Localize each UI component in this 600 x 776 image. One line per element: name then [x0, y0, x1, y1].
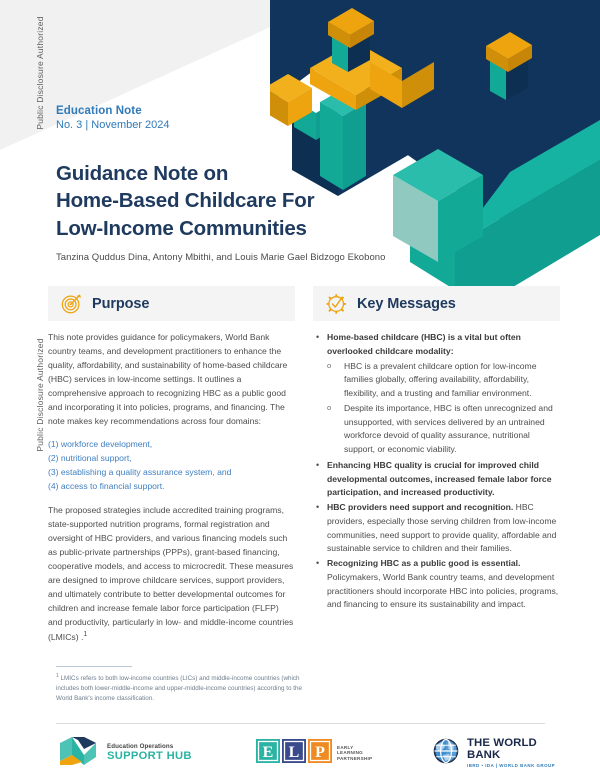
- globe-icon: [431, 736, 461, 771]
- page-title: Guidance Note on Home-Based Childcare Fo…: [56, 160, 386, 242]
- world-bank-line-1: THE WORLD BANK: [467, 738, 560, 762]
- support-hub-mark-icon: [58, 735, 100, 772]
- domain-item-3: (3) establishing a quality assurance sys…: [48, 466, 295, 480]
- world-bank-logo: THE WORLD BANK IBRD • IDA | WORLD BANK G…: [431, 735, 560, 771]
- elp-mark-icon: E L P: [256, 738, 332, 769]
- list-item: HBC is a prevalent childcare option for …: [327, 360, 560, 401]
- list-item: Recognizing HBC as a public good is esse…: [313, 557, 560, 612]
- key-message-lead-2: Enhancing HBC quality is crucial for imp…: [327, 460, 551, 498]
- world-bank-line-2: IBRD • IDA | WORLD BANK GROUP: [467, 764, 560, 769]
- disclosure-label-bottom: Public Disclosure Authorized: [35, 295, 45, 495]
- purpose-paragraph-1: This note provides guidance for policyma…: [48, 331, 295, 428]
- key-message-lead-3: HBC providers need support and recogniti…: [327, 502, 513, 512]
- issue-date: No. 3 | November 2024: [56, 119, 386, 131]
- list-item: HBC providers need support and recogniti…: [313, 501, 560, 556]
- svg-text:L: L: [289, 744, 300, 761]
- list-item: Home-based childcare (HBC) is a vital bu…: [313, 331, 560, 457]
- footer-logos: Education Operations SUPPORT HUB E L P: [48, 735, 560, 771]
- document-page: Public Disclosure Authorized Public Disc…: [0, 0, 600, 776]
- purpose-section-header: Purpose: [48, 286, 295, 321]
- education-operations-support-hub-logo: Education Operations SUPPORT HUB: [58, 735, 192, 771]
- svg-text:E: E: [263, 744, 274, 761]
- footnote-rule: [56, 666, 132, 667]
- support-hub-line-2: SUPPORT HUB: [107, 751, 192, 762]
- purpose-paragraph-2: The proposed strategies include accredit…: [48, 504, 295, 645]
- title-line-3: Low-Income Communities: [56, 215, 386, 242]
- list-item: Despite its importance, HBC is often unr…: [327, 402, 560, 457]
- footnote-marker: 1: [83, 630, 87, 638]
- content-columns: Purpose This note provides guidance for …: [48, 286, 560, 645]
- purpose-body: This note provides guidance for policyma…: [48, 331, 295, 645]
- key-message-lead-suffix-1: :: [451, 346, 454, 356]
- key-message-rest-4: Policymakers, World Bank country teams, …: [327, 572, 558, 610]
- elp-logo: E L P EARLY LEARNING PARTNERSHIP: [256, 735, 372, 771]
- document-header: Education Note No. 3 | November 2024 Gui…: [56, 105, 386, 263]
- key-messages-list: Home-based childcare (HBC) is a vital bu…: [313, 331, 560, 612]
- domain-item-2: (2) nutritional support,: [48, 452, 295, 466]
- author-list: Tanzina Quddus Dina, Antony Mbithi, and …: [56, 252, 386, 263]
- key-messages-column: Key Messages Home-based childcare (HBC) …: [313, 286, 560, 645]
- domain-item-1: (1) workforce development,: [48, 438, 295, 452]
- title-line-1: Guidance Note on: [56, 160, 386, 187]
- footnote-block: 1 LMICs refers to both low-income countr…: [56, 666, 306, 705]
- key-message-lead-1: Home-based childcare (HBC) is a vital bu…: [327, 332, 521, 356]
- footnote-body: LMICs refers to both low-income countrie…: [56, 675, 302, 702]
- list-item: Enhancing HBC quality is crucial for imp…: [313, 459, 560, 500]
- footer-divider: [56, 723, 545, 724]
- purpose-domain-list: (1) workforce development, (2) nutrition…: [48, 438, 295, 494]
- disclosure-label-top: Public Disclosure Authorized: [35, 0, 45, 173]
- series-kicker: Education Note: [56, 105, 386, 117]
- public-disclosure-rail: Public Disclosure Authorized Public Disc…: [0, 0, 34, 776]
- key-message-sublist-1: HBC is a prevalent childcare option for …: [327, 360, 560, 457]
- footnote-text: 1 LMICs refers to both low-income countr…: [56, 672, 306, 705]
- key-messages-heading: Key Messages: [357, 296, 456, 312]
- purpose-heading: Purpose: [92, 296, 149, 312]
- gear-check-icon: [325, 292, 348, 315]
- purpose-column: Purpose This note provides guidance for …: [48, 286, 295, 645]
- svg-text:P: P: [315, 744, 325, 761]
- target-arrow-icon: [60, 292, 83, 315]
- purpose-paragraph-2-text: The proposed strategies include accredit…: [48, 505, 293, 642]
- title-line-2: Home-Based Childcare For: [56, 187, 386, 214]
- key-message-lead-4: Recognizing HBC as a public good is esse…: [327, 558, 520, 568]
- elp-line-3: PARTNERSHIP: [337, 756, 372, 762]
- domain-item-4: (4) access to financial support.: [48, 480, 295, 494]
- key-messages-section-header: Key Messages: [313, 286, 560, 321]
